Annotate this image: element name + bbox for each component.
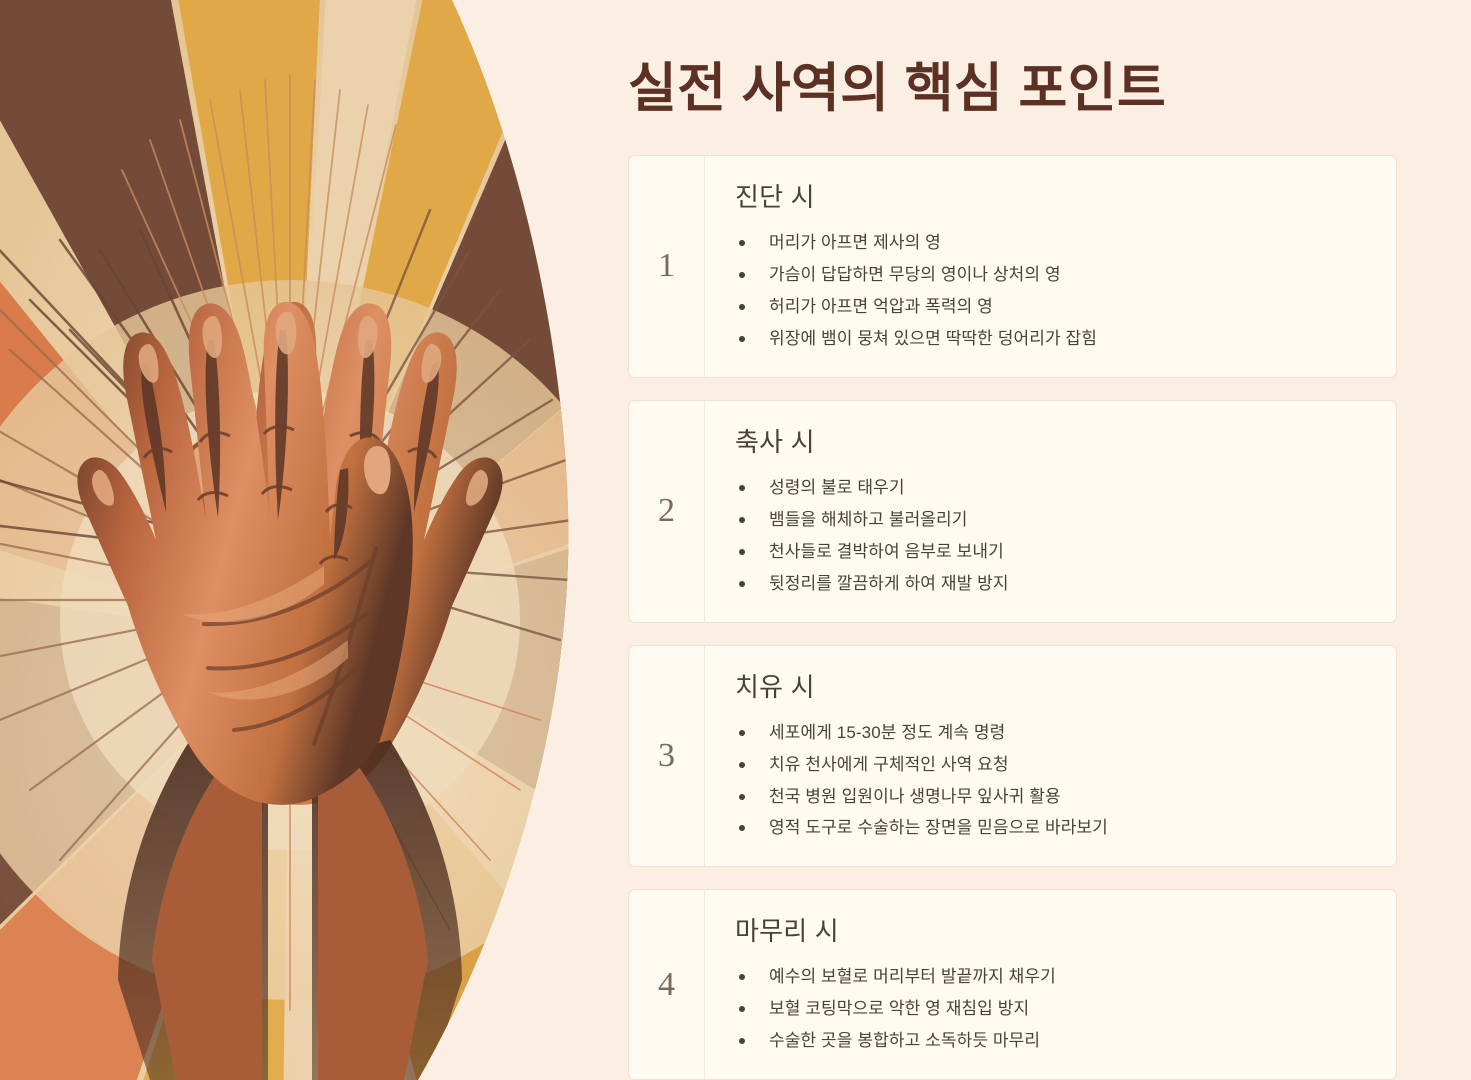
bullet-dot-icon [739,485,745,491]
card-bullet-text: 예수의 보혈로 머리부터 발끝까지 채우기 [769,967,1056,986]
card-bullet-item: 머리가 아프면 제사의 영 [735,227,1372,259]
card-bullet-text: 천국 병원 입원이나 생명나무 잎사귀 활용 [769,787,1061,806]
card-bullet-text: 영적 도구로 수술하는 장면을 믿음으로 바라보기 [769,818,1108,837]
content-column: 실전 사역의 핵심 포인트 1진단 시머리가 아프면 제사의 영가슴이 답답하면… [628,0,1398,1080]
point-card: 4마무리 시예수의 보혈로 머리부터 발끝까지 채우기보혈 코팅막으로 악한 영… [628,889,1397,1080]
card-heading: 마무리 시 [735,911,1372,948]
open-praying-hands-sunburst-illustration [0,0,580,1080]
bullet-dot-icon [739,762,745,768]
bullet-dot-icon [739,272,745,278]
bullet-dot-icon [739,1038,745,1044]
card-number: 3 [658,739,675,773]
card-bullet-text: 성령의 불로 태우기 [769,478,905,497]
card-bullet-item: 영적 도구로 수술하는 장면을 믿음으로 바라보기 [735,812,1372,844]
card-bullet-item: 성령의 불로 태우기 [735,472,1372,504]
card-bullet-item: 천사들로 결박하여 음부로 보내기 [735,536,1372,568]
page-title: 실전 사역의 핵심 포인트 [628,46,1166,122]
card-bullet-item: 가슴이 답답하면 무당의 영이나 상처의 영 [735,259,1372,291]
card-bullet-item: 치유 천사에게 구체적인 사역 요청 [735,749,1372,781]
card-number-column: 4 [629,890,705,1079]
card-body: 치유 시세포에게 15-30분 정도 계속 명령치유 천사에게 구체적인 사역 … [705,646,1396,867]
card-number-column: 1 [629,156,705,377]
card-heading: 축사 시 [735,422,1372,459]
card-bullet-item: 세포에게 15-30분 정도 계속 명령 [735,717,1372,749]
bullet-dot-icon [739,240,745,246]
card-bullet-item: 보혈 코팅막으로 악한 영 재침입 방지 [735,993,1372,1025]
bullet-dot-icon [739,825,745,831]
card-bullet-text: 세포에게 15-30분 정도 계속 명령 [769,723,1005,742]
card-bullet-text: 치유 천사에게 구체적인 사역 요청 [769,755,1009,774]
bullet-dot-icon [739,974,745,980]
card-body: 축사 시성령의 불로 태우기뱀들을 해체하고 불러올리기천사들로 결박하여 음부… [705,401,1396,622]
bullet-dot-icon [739,517,745,523]
card-bullet-text: 천사들로 결박하여 음부로 보내기 [769,542,1004,561]
bullet-dot-icon [739,730,745,736]
card-bullet-list: 예수의 보혈로 머리부터 발끝까지 채우기보혈 코팅막으로 악한 영 재침입 방… [735,961,1372,1057]
card-bullet-text: 수술한 곳을 봉합하고 소독하듯 마무리 [769,1031,1040,1050]
card-bullet-text: 머리가 아프면 제사의 영 [769,233,941,252]
card-bullet-text: 허리가 아프면 억압과 폭력의 영 [769,297,993,316]
card-bullet-item: 위장에 뱀이 뭉쳐 있으면 딱딱한 덩어리가 잡힘 [735,323,1372,355]
card-number-column: 2 [629,401,705,622]
card-bullet-item: 뒷정리를 깔끔하게 하여 재발 방지 [735,568,1372,600]
card-bullet-item: 뱀들을 해체하고 불러올리기 [735,504,1372,536]
point-card: 2축사 시성령의 불로 태우기뱀들을 해체하고 불러올리기천사들로 결박하여 음… [628,400,1397,623]
point-card: 1진단 시머리가 아프면 제사의 영가슴이 답답하면 무당의 영이나 상처의 영… [628,155,1397,378]
card-bullet-item: 예수의 보혈로 머리부터 발끝까지 채우기 [735,961,1372,993]
card-bullet-item: 천국 병원 입원이나 생명나무 잎사귀 활용 [735,781,1372,813]
point-card-list: 1진단 시머리가 아프면 제사의 영가슴이 답답하면 무당의 영이나 상처의 영… [628,155,1397,1080]
card-bullet-text: 위장에 뱀이 뭉쳐 있으면 딱딱한 덩어리가 잡힘 [769,329,1097,348]
point-card: 3치유 시세포에게 15-30분 정도 계속 명령치유 천사에게 구체적인 사역… [628,645,1397,868]
card-heading: 진단 시 [735,177,1372,214]
card-bullet-text: 뒷정리를 깔끔하게 하여 재발 방지 [769,574,1009,593]
card-bullet-text: 보혈 코팅막으로 악한 영 재침입 방지 [769,999,1029,1018]
card-number-column: 3 [629,646,705,867]
card-bullet-list: 성령의 불로 태우기뱀들을 해체하고 불러올리기천사들로 결박하여 음부로 보내… [735,472,1372,600]
card-bullet-item: 수술한 곳을 봉합하고 소독하듯 마무리 [735,1025,1372,1057]
card-heading: 치유 시 [735,667,1372,704]
bullet-dot-icon [739,1006,745,1012]
card-bullet-list: 세포에게 15-30분 정도 계속 명령치유 천사에게 구체적인 사역 요청천국… [735,717,1372,845]
card-bullet-text: 가슴이 답답하면 무당의 영이나 상처의 영 [769,265,1061,284]
card-bullet-list: 머리가 아프면 제사의 영가슴이 답답하면 무당의 영이나 상처의 영허리가 아… [735,227,1372,355]
bullet-dot-icon [739,304,745,310]
card-number: 1 [658,249,675,283]
bullet-dot-icon [739,581,745,587]
slide-root: 실전 사역의 핵심 포인트 1진단 시머리가 아프면 제사의 영가슴이 답답하면… [0,0,1471,1080]
card-body: 진단 시머리가 아프면 제사의 영가슴이 답답하면 무당의 영이나 상처의 영허… [705,156,1396,377]
card-bullet-text: 뱀들을 해체하고 불러올리기 [769,510,968,529]
bullet-dot-icon [739,336,745,342]
card-body: 마무리 시예수의 보혈로 머리부터 발끝까지 채우기보혈 코팅막으로 악한 영 … [705,890,1396,1079]
bullet-dot-icon [739,794,745,800]
card-number: 4 [658,968,675,1002]
card-number: 2 [658,494,675,528]
bullet-dot-icon [739,549,745,555]
card-bullet-item: 허리가 아프면 억압과 폭력의 영 [735,291,1372,323]
